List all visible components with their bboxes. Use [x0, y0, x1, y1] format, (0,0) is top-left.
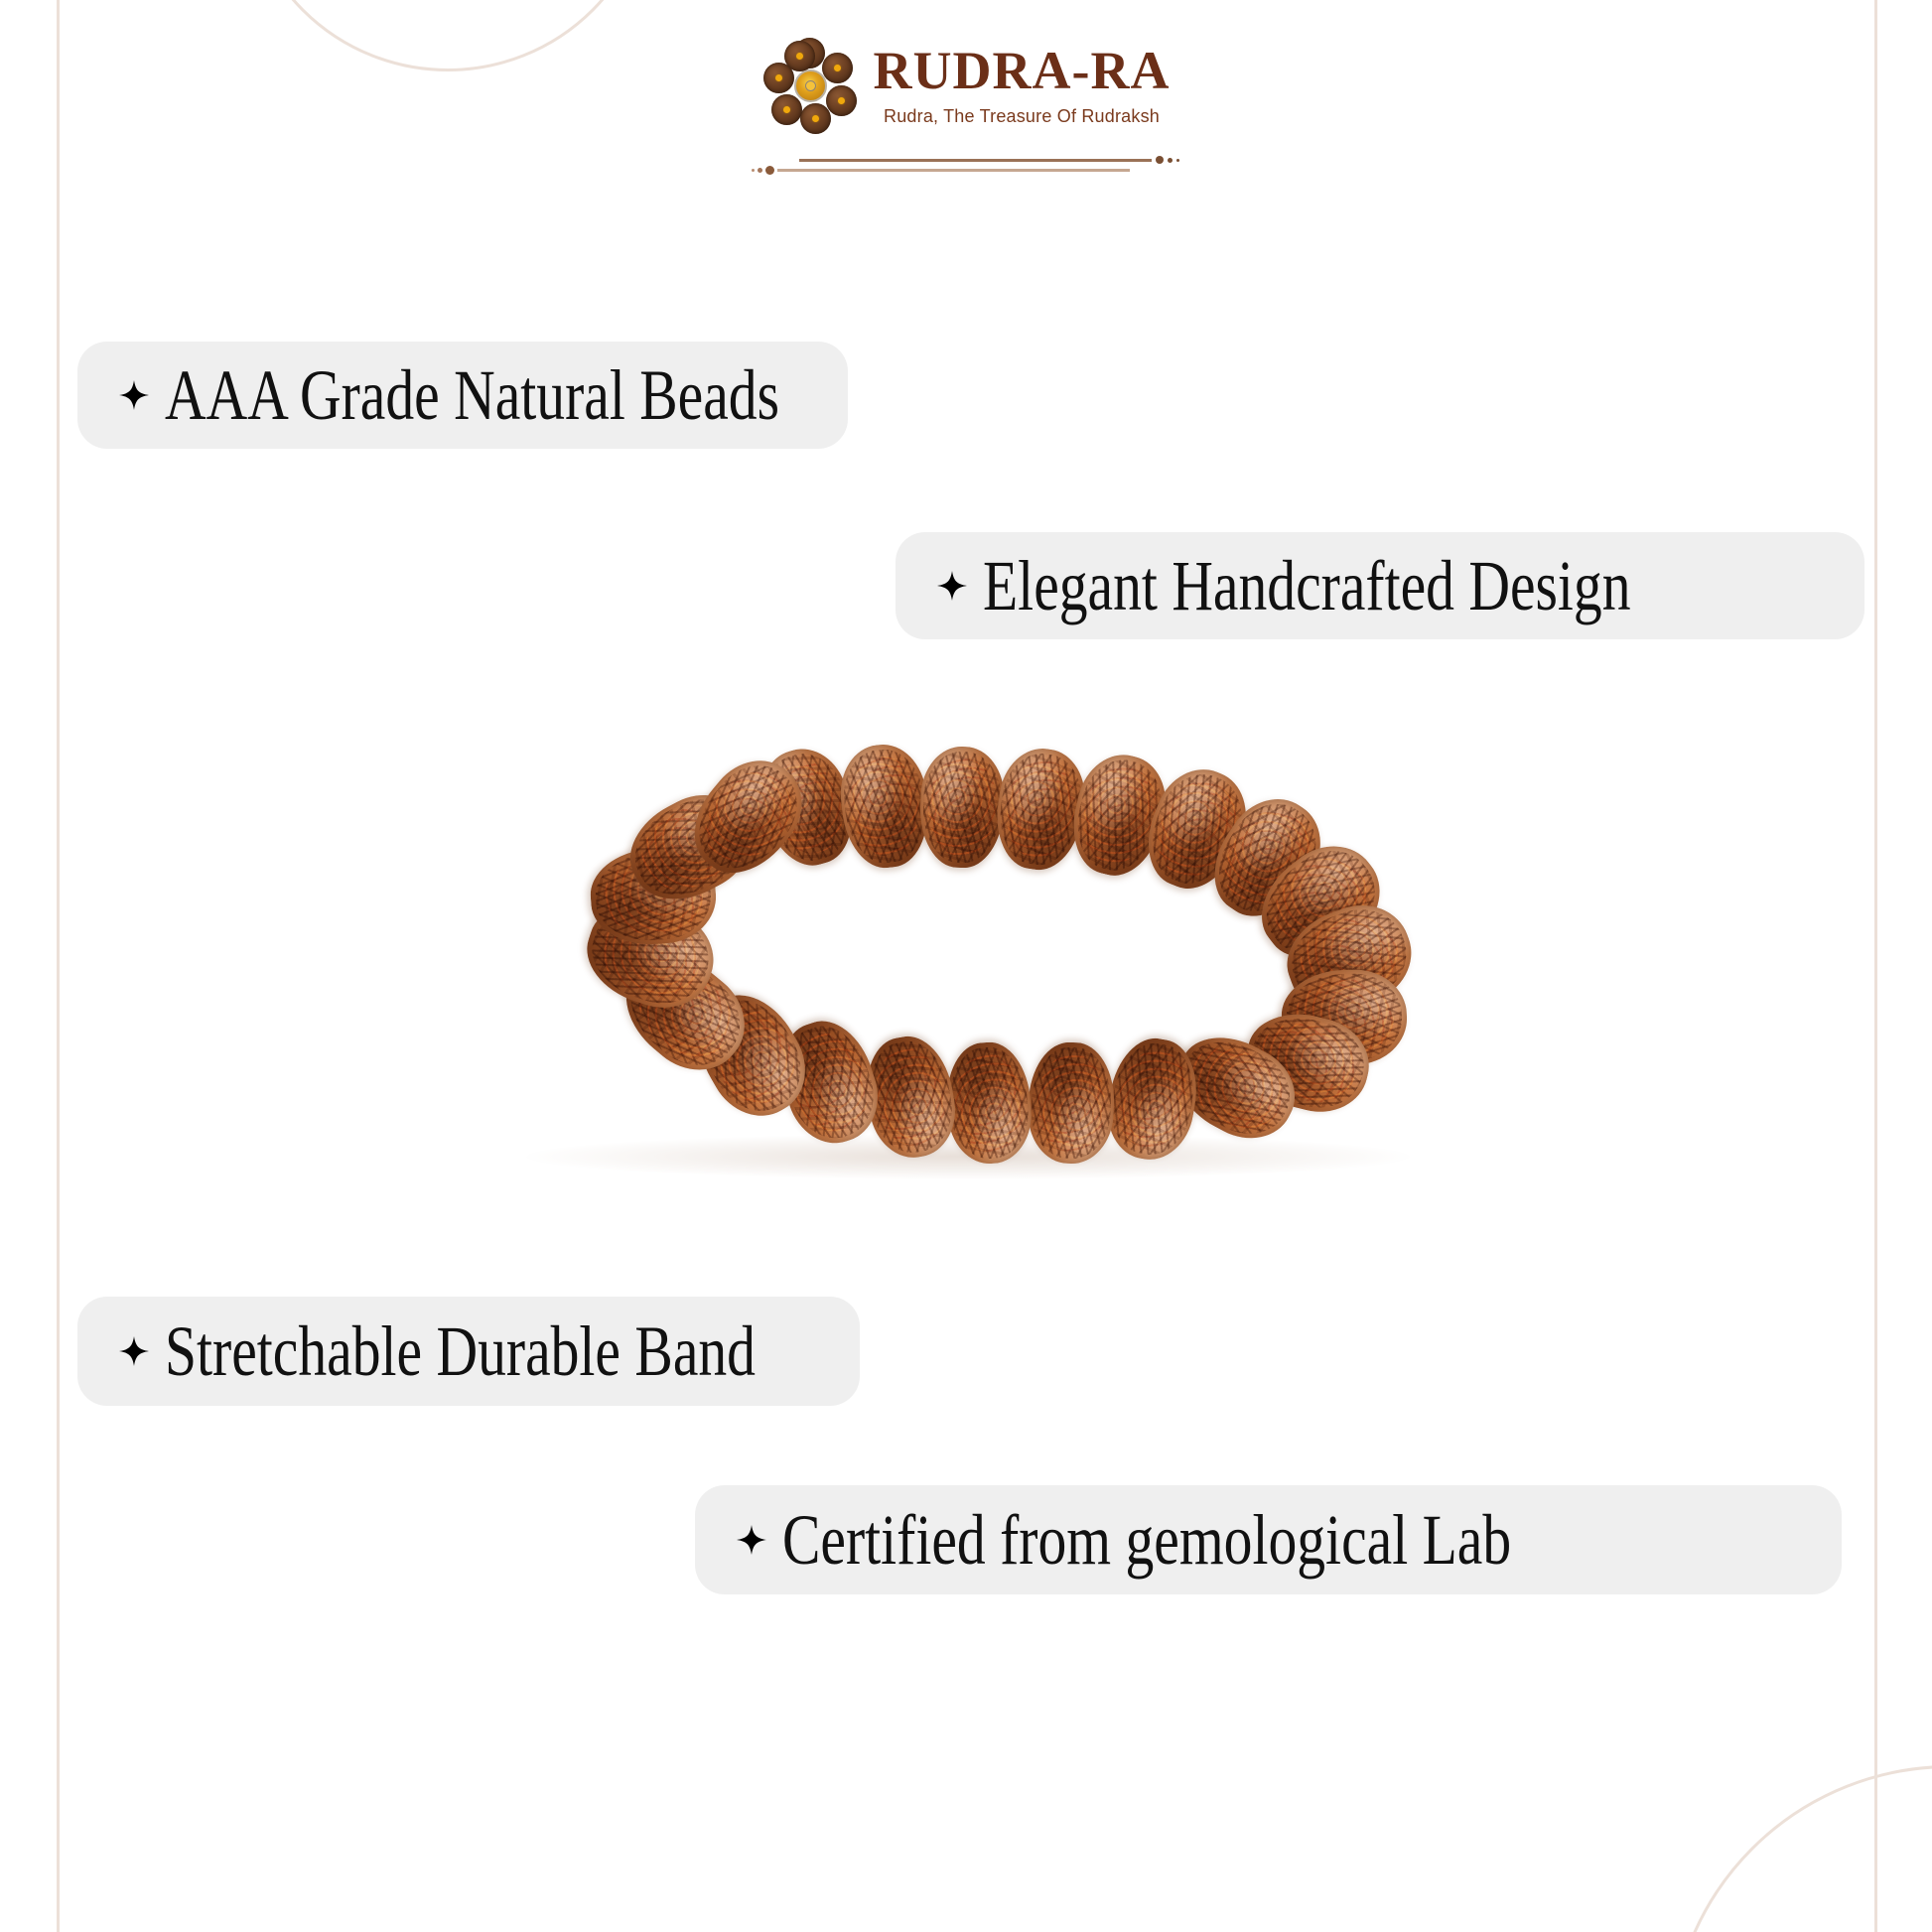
rudraksha-bead-bracelet-image	[467, 745, 1469, 1191]
feature-label: AAA Grade Natural Beads	[165, 359, 779, 431]
feature-pill-stretchable-durable-band: Stretchable Durable Band	[77, 1297, 860, 1406]
ornamental-divider-icon	[750, 151, 1176, 177]
feature-label: Certified from gemological Lab	[782, 1504, 1511, 1576]
divider-bar-top	[799, 159, 1152, 162]
divider-bar-bottom	[777, 169, 1130, 172]
feature-label: Elegant Handcrafted Design	[983, 550, 1631, 621]
logo-row: RUDRA-RA Rudra, The Treasure Of Rudraksh	[762, 38, 1171, 133]
divider-dot-right-medium	[1168, 158, 1173, 163]
feature-label: Stretchable Durable Band	[165, 1315, 756, 1387]
frame-line-left	[57, 0, 60, 1932]
divider-dot-right-small	[1176, 159, 1179, 162]
decorative-arc-icon-bottom-right	[1669, 1765, 1932, 1932]
divider-dot-left-medium	[758, 168, 762, 173]
frame-line-right	[1874, 0, 1877, 1932]
four-point-star-icon	[937, 571, 967, 601]
brand-wordmark: RUDRA-RA	[874, 44, 1171, 97]
brand-header: RUDRA-RA Rudra, The Treasure Of Rudraksh	[0, 38, 1932, 133]
feature-pill-aaa-grade-natural-beads: AAA Grade Natural Beads	[77, 342, 848, 449]
rudraksha-flower-logo-icon	[762, 38, 858, 133]
four-point-star-icon	[119, 1336, 149, 1366]
four-point-star-icon	[119, 380, 149, 410]
logo-text-block: RUDRA-RA Rudra, The Treasure Of Rudraksh	[874, 44, 1171, 127]
divider-dot-left-small	[752, 169, 755, 172]
product-feature-poster: RUDRA-RA Rudra, The Treasure Of Rudraksh…	[0, 0, 1932, 1932]
divider-dot-left-large	[765, 166, 774, 175]
feature-pill-elegant-handcrafted-design: Elegant Handcrafted Design	[896, 532, 1864, 639]
brand-tagline: Rudra, The Treasure Of Rudraksh	[884, 106, 1160, 127]
four-point-star-icon	[737, 1525, 766, 1555]
divider-dot-right-large	[1156, 156, 1164, 164]
feature-pill-certified-from-gemological-lab: Certified from gemological Lab	[695, 1485, 1842, 1594]
